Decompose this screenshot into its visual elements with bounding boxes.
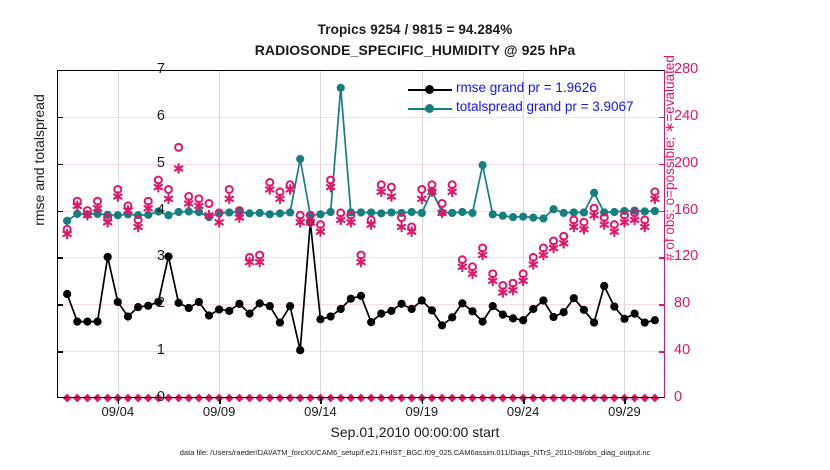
data-point xyxy=(529,305,537,313)
obs-evaluated-marker xyxy=(266,185,273,194)
data-point xyxy=(549,313,557,321)
x-tick-label: 09/29 xyxy=(589,404,659,419)
data-point xyxy=(296,155,304,163)
obs-baseline-marker xyxy=(245,394,254,403)
x-tick-label: 09/04 xyxy=(83,404,153,419)
left-tick-label: 1 xyxy=(125,342,165,358)
obs-evaluated-marker xyxy=(226,195,233,204)
x-tick-mark xyxy=(118,398,119,404)
data-point xyxy=(438,321,446,329)
left-tick-label: 6 xyxy=(125,108,165,124)
right-tick-label: 200 xyxy=(674,155,720,171)
obs-evaluated-marker xyxy=(530,260,537,269)
obs-evaluated-marker xyxy=(651,195,658,204)
obs-evaluated-marker xyxy=(388,192,395,201)
data-point xyxy=(104,253,112,261)
obs-evaluated-marker xyxy=(631,216,638,225)
data-point xyxy=(651,316,659,324)
obs-evaluated-marker xyxy=(317,227,324,236)
data-point xyxy=(114,298,122,306)
data-point xyxy=(93,318,101,326)
obs-evaluated-marker xyxy=(215,218,222,227)
right-tick-label: 40 xyxy=(674,342,720,358)
obs-baseline-marker xyxy=(529,394,538,403)
x-tick-mark xyxy=(523,398,524,404)
obs-possible-marker xyxy=(388,184,395,191)
data-point xyxy=(610,303,618,311)
x-tick-mark xyxy=(624,398,625,404)
left-tick-mark xyxy=(57,304,63,305)
obs-evaluated-marker xyxy=(114,192,121,201)
legend-marker-totalspread xyxy=(425,104,434,113)
left-tick-label: 4 xyxy=(125,202,165,218)
obs-baseline-marker xyxy=(377,394,386,403)
data-point xyxy=(529,214,537,222)
obs-evaluated-marker xyxy=(175,164,182,173)
obs-baseline-marker xyxy=(306,394,315,403)
obs-baseline-marker xyxy=(387,394,396,403)
data-point xyxy=(600,282,608,290)
obs-evaluated-marker xyxy=(580,225,587,234)
obs-evaluated-marker xyxy=(165,195,172,204)
obs-baseline-marker xyxy=(286,394,295,403)
data-point xyxy=(519,213,527,221)
data-point xyxy=(651,207,659,215)
data-point xyxy=(327,208,335,216)
data-point xyxy=(266,210,274,218)
data-point xyxy=(560,308,568,316)
obs-baseline-marker xyxy=(346,394,355,403)
obs-evaluated-marker xyxy=(550,244,557,253)
obs-baseline-marker xyxy=(407,394,416,403)
right-tick-mark xyxy=(659,351,665,352)
data-point xyxy=(195,298,203,306)
obs-baseline-marker xyxy=(600,394,609,403)
data-point xyxy=(164,211,172,219)
data-point xyxy=(286,302,294,310)
data-point xyxy=(124,312,132,320)
obs-possible-marker xyxy=(175,144,182,151)
obs-baseline-marker xyxy=(458,394,467,403)
obs-possible-marker xyxy=(226,186,233,193)
data-point xyxy=(83,318,91,326)
data-point xyxy=(458,299,466,307)
obs-evaluated-marker xyxy=(600,220,607,229)
data-point xyxy=(175,299,183,307)
data-point xyxy=(549,205,557,213)
obs-evaluated-marker xyxy=(621,218,628,227)
data-file-footer: data file: /Users/raeder/DAI/ATM_forcXX/… xyxy=(0,448,830,457)
data-point xyxy=(408,208,416,216)
x-tick-label: 09/24 xyxy=(488,404,558,419)
obs-possible-marker xyxy=(165,186,172,193)
obs-evaluated-marker xyxy=(155,183,162,192)
data-point xyxy=(185,304,193,312)
obs-baseline-marker xyxy=(640,394,649,403)
data-point xyxy=(387,307,395,315)
right-tick-label: 120 xyxy=(674,248,720,264)
obs-baseline-marker xyxy=(174,394,183,403)
obs-baseline-marker xyxy=(83,394,92,403)
data-point xyxy=(620,315,628,323)
data-point xyxy=(397,300,405,308)
left-tick-mark xyxy=(57,164,63,165)
chart-title-line2: RADIOSONDE_SPECIFIC_HUMIDITY @ 925 hPa xyxy=(0,42,830,58)
right-tick-label: 0 xyxy=(674,389,720,405)
x-tick-mark xyxy=(320,398,321,404)
obs-evaluated-marker xyxy=(448,188,455,197)
obs-evaluated-marker xyxy=(134,223,141,232)
x-tick-label: 09/14 xyxy=(285,404,355,419)
obs-baseline-marker xyxy=(559,394,568,403)
obs-possible-marker xyxy=(206,200,213,207)
data-point xyxy=(641,207,649,215)
obs-baseline-marker xyxy=(509,394,518,403)
left-tick-label: 0 xyxy=(125,389,165,405)
legend-label-totalspread: totalspread grand pr = 3.9067 xyxy=(456,99,634,114)
left-tick-mark xyxy=(57,351,63,352)
obs-evaluated-marker xyxy=(570,223,577,232)
data-point xyxy=(418,296,426,304)
obs-baseline-marker xyxy=(93,394,102,403)
data-point xyxy=(164,252,172,260)
data-point xyxy=(316,315,324,323)
obs-evaluated-marker xyxy=(509,286,516,295)
data-point xyxy=(489,210,497,218)
data-point xyxy=(245,209,253,217)
obs-baseline-marker xyxy=(164,394,173,403)
obs-baseline-marker xyxy=(255,394,264,403)
data-point xyxy=(408,305,416,313)
obs-evaluated-marker xyxy=(378,188,385,197)
obs-baseline-marker xyxy=(610,394,619,403)
data-point xyxy=(489,302,497,310)
x-tick-label: 09/09 xyxy=(184,404,254,419)
data-point xyxy=(175,208,183,216)
obs-evaluated-marker xyxy=(479,251,486,260)
obs-baseline-marker xyxy=(276,394,285,403)
data-point xyxy=(499,310,507,318)
data-point xyxy=(428,306,436,314)
data-point xyxy=(337,84,345,92)
data-point xyxy=(276,209,284,217)
obs-baseline-marker xyxy=(205,394,214,403)
right-tick-label: 240 xyxy=(674,108,720,124)
obs-baseline-marker xyxy=(590,394,599,403)
data-point xyxy=(560,209,568,217)
obs-baseline-marker xyxy=(326,394,335,403)
data-point xyxy=(539,296,547,304)
obs-baseline-marker xyxy=(478,394,487,403)
series-filled-circle xyxy=(63,218,659,354)
obs-evaluated-marker xyxy=(337,216,344,225)
obs-baseline-marker xyxy=(428,394,437,403)
obs-evaluated-marker xyxy=(347,218,354,227)
data-point xyxy=(256,209,264,217)
data-point xyxy=(610,208,618,216)
obs-possible-marker xyxy=(439,200,446,207)
x-tick-label: 09/19 xyxy=(387,404,457,419)
obs-baseline-marker xyxy=(498,394,507,403)
data-point xyxy=(448,209,456,217)
data-point xyxy=(73,318,81,326)
obs-evaluated-marker xyxy=(540,251,547,260)
data-point xyxy=(63,290,71,298)
data-point xyxy=(641,318,649,326)
obs-baseline-marker xyxy=(488,394,497,403)
obs-baseline-marker xyxy=(73,394,82,403)
obs-baseline-marker xyxy=(438,394,447,403)
obs-evaluated-marker xyxy=(398,223,405,232)
left-tick-mark xyxy=(57,257,63,258)
data-point xyxy=(458,208,466,216)
data-point xyxy=(114,211,122,219)
obs-evaluated-marker xyxy=(296,218,303,227)
obs-baseline-marker xyxy=(397,394,406,403)
data-point xyxy=(479,318,487,326)
data-point xyxy=(225,208,233,216)
left-axis-label: rmse and totalspread xyxy=(31,0,47,325)
obs-baseline-marker xyxy=(184,394,193,403)
data-point xyxy=(225,307,233,315)
obs-evaluated-marker xyxy=(357,258,364,267)
data-point xyxy=(519,316,527,324)
data-point xyxy=(357,292,365,300)
obs-evaluated-marker xyxy=(185,199,192,208)
obs-evaluated-marker xyxy=(641,223,648,232)
data-point xyxy=(63,217,71,225)
obs-evaluated-marker xyxy=(469,270,476,279)
obs-possible-marker xyxy=(418,186,425,193)
chart-figure: Tropics 9254 / 9815 = 94.284% RADIOSONDE… xyxy=(0,0,830,470)
obs-evaluated-marker xyxy=(256,258,263,267)
obs-baseline-marker xyxy=(569,394,578,403)
data-point xyxy=(580,306,588,314)
obs-baseline-marker xyxy=(468,394,477,403)
obs-baseline-marker xyxy=(357,394,366,403)
left-tick-label: 7 xyxy=(125,61,165,77)
data-point xyxy=(327,312,335,320)
data-point xyxy=(235,300,243,308)
data-point xyxy=(468,307,476,315)
chart-title-line1: Tropics 9254 / 9815 = 94.284% xyxy=(0,22,830,37)
obs-baseline-marker xyxy=(367,394,376,403)
obs-evaluated-marker xyxy=(459,263,466,272)
obs-baseline-marker xyxy=(63,394,72,403)
obs-evaluated-marker xyxy=(611,227,618,236)
data-point xyxy=(570,294,578,302)
data-point xyxy=(337,305,345,313)
obs-evaluated-marker xyxy=(590,211,597,220)
data-point xyxy=(509,314,517,322)
data-point xyxy=(509,213,517,221)
data-point xyxy=(245,310,253,318)
data-point xyxy=(387,208,395,216)
data-point xyxy=(215,305,223,313)
data-point xyxy=(570,208,578,216)
obs-evaluated-marker xyxy=(499,288,506,297)
obs-evaluated-marker xyxy=(519,277,526,286)
left-tick-mark xyxy=(57,211,63,212)
x-axis-label: Sep.01,2010 00:00:00 start xyxy=(0,424,830,440)
obs-baseline-marker xyxy=(265,394,274,403)
right-tick-label: 160 xyxy=(674,202,720,218)
series-asterisk xyxy=(63,164,658,297)
obs-baseline-marker xyxy=(103,394,112,403)
left-tick-label: 5 xyxy=(125,155,165,171)
obs-baseline-marker xyxy=(650,394,659,403)
data-point xyxy=(448,313,456,321)
x-tick-mark xyxy=(219,398,220,404)
data-point xyxy=(316,210,324,218)
right-tick-label: 280 xyxy=(674,61,720,77)
data-point xyxy=(205,311,213,319)
legend-label-rmse: rmse grand pr = 1.9626 xyxy=(456,80,597,95)
data-point xyxy=(377,310,385,318)
obs-baseline-marker xyxy=(549,394,558,403)
data-point xyxy=(256,299,264,307)
obs-baseline-marker xyxy=(630,394,639,403)
obs-baseline-marker xyxy=(336,394,345,403)
data-point xyxy=(631,310,639,318)
data-point xyxy=(367,208,375,216)
left-tick-mark xyxy=(57,117,63,118)
data-point xyxy=(347,295,355,303)
data-point xyxy=(418,209,426,217)
data-point xyxy=(479,161,487,169)
obs-baseline-marker xyxy=(225,394,234,403)
data-point xyxy=(499,212,507,220)
obs-baseline-marker xyxy=(448,394,457,403)
obs-evaluated-marker xyxy=(489,277,496,286)
data-point xyxy=(580,208,588,216)
data-point xyxy=(367,318,375,326)
x-tick-mark xyxy=(422,398,423,404)
right-axis-label: # of obs: o=possible; ∗=evaluated xyxy=(662,0,678,328)
data-point xyxy=(286,208,294,216)
right-tick-label: 80 xyxy=(674,295,720,311)
data-point xyxy=(590,189,598,197)
data-point xyxy=(357,208,365,216)
obs-baseline-marker xyxy=(580,394,589,403)
data-point xyxy=(468,209,476,217)
obs-evaluated-marker xyxy=(560,239,567,248)
data-point xyxy=(296,346,304,354)
data-point xyxy=(276,318,284,326)
obs-baseline-marker xyxy=(296,394,305,403)
obs-baseline-marker xyxy=(235,394,244,403)
data-point xyxy=(377,209,385,217)
obs-evaluated-marker xyxy=(276,195,283,204)
data-point xyxy=(539,214,547,222)
data-point xyxy=(266,302,274,310)
left-tick-label: 3 xyxy=(125,248,165,264)
data-point xyxy=(590,318,598,326)
obs-evaluated-marker xyxy=(418,195,425,204)
obs-baseline-marker xyxy=(539,394,548,403)
legend-marker-rmse xyxy=(425,85,434,94)
obs-baseline-marker xyxy=(194,394,203,403)
left-tick-label: 2 xyxy=(125,295,165,311)
